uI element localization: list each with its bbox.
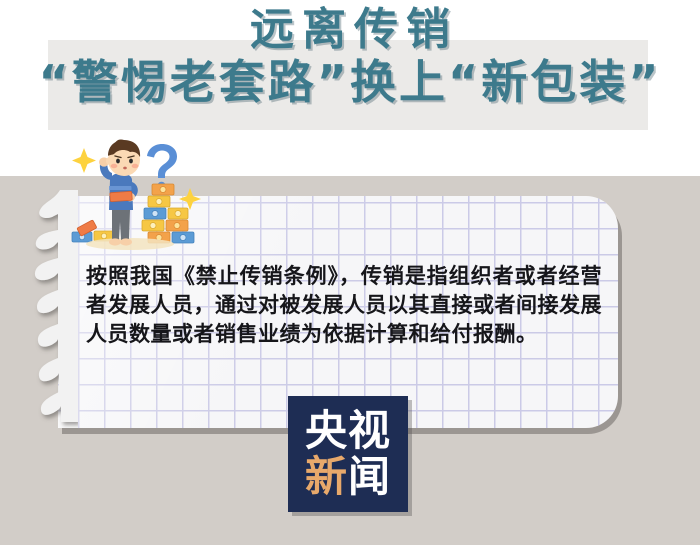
headline-line-1: 远离传销 <box>0 8 700 53</box>
sparkle-icon-left <box>72 148 96 173</box>
cctv-news-logo: 央视 新 闻 <box>288 396 408 512</box>
logo-char-wen: 闻 <box>348 456 391 498</box>
question-mark-icon <box>147 144 177 190</box>
poster-canvas: 远离传销 “警惕老套路”换上“新包装” 按照我国《禁止传销条例》，传销是指组织者… <box>0 0 700 545</box>
scattered-banknotes-icon <box>72 220 114 242</box>
sparkle-icon-right <box>179 188 201 210</box>
body-paragraph: 按照我国《禁止传销条例》，传销是指组织者或者经营者发展人员，通过对被发展人员以其… <box>86 262 602 349</box>
poster-headline: 远离传销 “警惕老套路”换上“新包装” <box>0 8 700 106</box>
headline-line-2: “警惕老套路”换上“新包装” <box>0 59 700 106</box>
confused-boy-illustration-icon <box>62 136 212 254</box>
logo-char-xin: 新 <box>305 456 348 498</box>
banknote-stack-icon <box>142 184 194 243</box>
logo-line-2: 新 闻 <box>305 456 391 498</box>
logo-line-1: 央视 <box>305 410 391 452</box>
boy-figure-icon <box>99 139 140 245</box>
